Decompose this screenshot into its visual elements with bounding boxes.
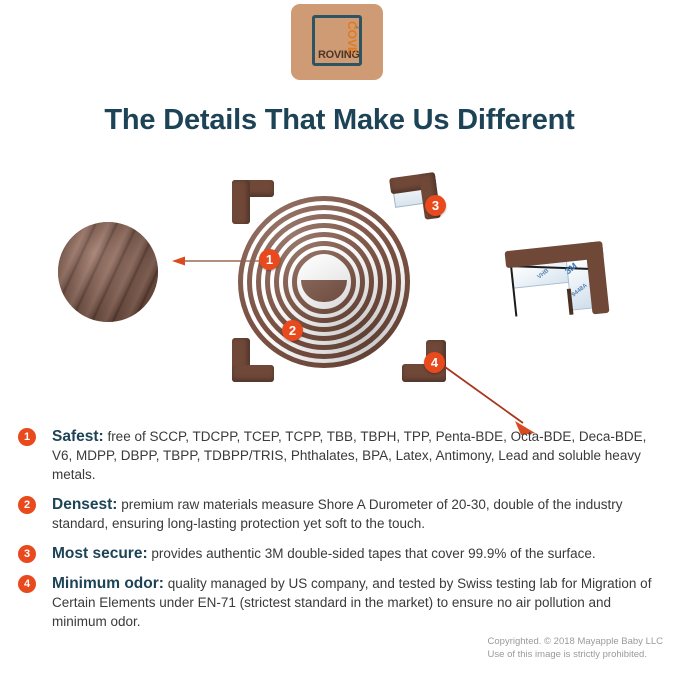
feature-text: Densest: premium raw materials measure S…: [52, 495, 666, 533]
feature-text: Safest: free of SCCP, TDCPP, TCEP, TCPP,…: [52, 427, 666, 484]
copyright-line-1: Copyrighted. © 2018 Mayapple Baby LLC: [488, 635, 663, 648]
guard-arm-vertical: [232, 180, 250, 224]
corner-guard-bottom-left: [232, 338, 274, 382]
guard-arm-horizontal: [232, 365, 274, 382]
feature-body: free of SCCP, TDCPP, TCEP, TCPP, TBB, TB…: [52, 429, 646, 482]
feature-item: 3 Most secure: provides authentic 3M dou…: [18, 544, 666, 563]
foam-texture-magnifier: [58, 222, 158, 322]
feature-item: 4 Minimum odor: quality managed by US co…: [18, 574, 666, 631]
feature-badge-3: 3: [18, 545, 36, 563]
logo-square-frame: ROVING COVE ™: [312, 15, 362, 66]
feature-badge-4: 4: [18, 575, 36, 593]
feature-list: 1 Safest: free of SCCP, TDCPP, TCEP, TCP…: [18, 427, 666, 642]
feature-badge-2: 2: [18, 496, 36, 514]
callout-badge-3: 3: [425, 195, 446, 216]
feature-label: Densest:: [52, 496, 117, 513]
page-title: The Details That Make Us Different: [0, 104, 679, 137]
feature-text: Most secure: provides authentic 3M doubl…: [52, 544, 666, 563]
corner-guard-top-left: [232, 180, 274, 224]
callout-badge-1: 1: [259, 249, 280, 270]
feature-item: 1 Safest: free of SCCP, TDCPP, TCEP, TCP…: [18, 427, 666, 484]
brand-logo: ROVING COVE ™: [291, 4, 383, 80]
corner-guard-with-3m-tape: 3M VHB 9448A: [505, 241, 610, 323]
feature-label: Minimum odor:: [52, 575, 164, 592]
copyright-line-2: Use of this image is strictly prohibited…: [488, 648, 663, 661]
feature-label: Most secure:: [52, 545, 148, 562]
feature-text: Minimum odor: quality managed by US comp…: [52, 574, 666, 631]
foam-shading: [58, 222, 158, 322]
feature-body: premium raw materials measure Shore A Du…: [52, 497, 622, 531]
feature-body: provides authentic 3M double-sided tapes…: [148, 546, 596, 561]
copyright-notice: Copyrighted. © 2018 Mayapple Baby LLC Us…: [488, 635, 663, 661]
callout-badge-4: 4: [424, 352, 445, 373]
feature-label: Safest:: [52, 428, 104, 445]
feature-badge-1: 1: [18, 428, 36, 446]
trademark-symbol: ™: [355, 26, 360, 32]
callout-badge-2: 2: [282, 320, 303, 341]
feature-item: 2 Densest: premium raw materials measure…: [18, 495, 666, 533]
